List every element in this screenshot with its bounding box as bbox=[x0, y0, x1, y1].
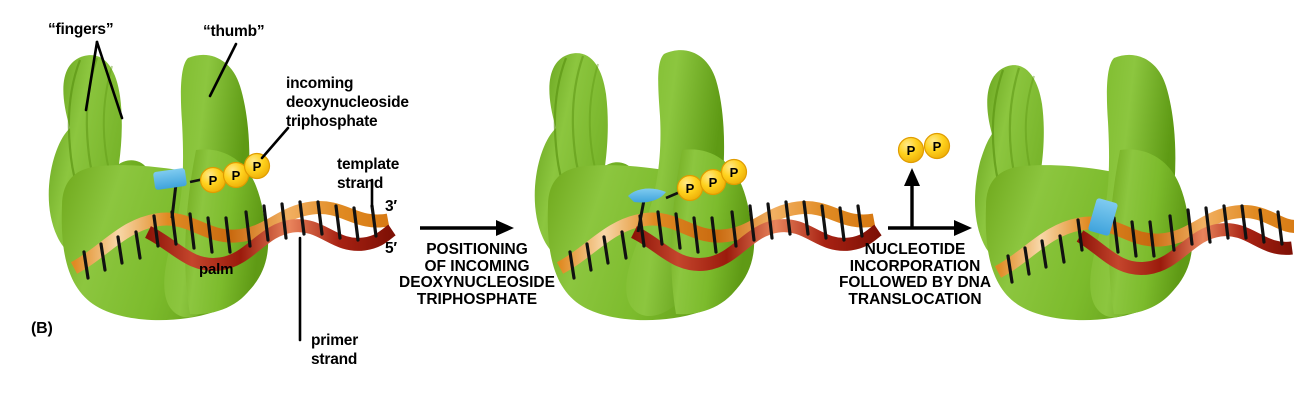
label-primer-strand-line1: primer bbox=[311, 333, 358, 350]
label-thumb: “thumb” bbox=[203, 24, 264, 41]
label-primer-strand-line2: strand bbox=[311, 352, 357, 369]
label-five-prime: 5′ bbox=[385, 241, 397, 258]
svg-text:P: P bbox=[686, 181, 695, 196]
label-incoming-dntp-line2: deoxynucleoside bbox=[286, 95, 409, 112]
panel-3-polymerase bbox=[975, 55, 1294, 320]
arrow2-line-2: INCORPORATION bbox=[836, 259, 994, 276]
illustration-layer: P P P bbox=[0, 0, 1294, 400]
svg-text:P: P bbox=[709, 175, 718, 190]
arrow-incorporation-caption: NUCLEOTIDE INCORPORATION FOLLOWED BY DNA… bbox=[836, 242, 994, 309]
arrow2-line-3: FOLLOWED BY DNA bbox=[836, 275, 994, 292]
arrow-positioning-caption: POSITIONING OF INCOMING DEOXYNUCLEOSIDE … bbox=[398, 242, 556, 309]
svg-text:P: P bbox=[907, 143, 916, 158]
arrow1-line-1: POSITIONING bbox=[398, 242, 556, 259]
label-incoming-dntp-line3: triphosphate bbox=[286, 114, 377, 131]
svg-text:P: P bbox=[933, 139, 942, 154]
arrow2-line-4: TRANSLOCATION bbox=[836, 292, 994, 309]
label-three-prime: 3′ bbox=[385, 199, 397, 216]
label-template-strand-line2: strand bbox=[337, 176, 383, 193]
arrow-incorporation-glyph bbox=[888, 168, 972, 236]
svg-text:P: P bbox=[253, 159, 262, 174]
svg-text:P: P bbox=[730, 165, 739, 180]
arrow1-line-4: TRIPHOSPHATE bbox=[398, 292, 556, 309]
label-incoming-dntp-line1: incoming bbox=[286, 76, 353, 93]
label-template-strand-line1: template bbox=[337, 157, 399, 174]
label-palm: palm bbox=[199, 262, 233, 278]
label-fingers: “fingers” bbox=[48, 22, 113, 39]
arrow1-line-2: OF INCOMING bbox=[398, 259, 556, 276]
released-pyrophosphate: P P bbox=[899, 134, 950, 163]
arrow1-line-3: DEOXYNUCLEOSIDE bbox=[398, 275, 556, 292]
arrow-positioning-glyph bbox=[420, 220, 514, 236]
dna-polymerase-figure: P P P bbox=[0, 0, 1294, 400]
arrow2-line-1: NUCLEOTIDE bbox=[836, 242, 994, 259]
svg-text:P: P bbox=[209, 173, 218, 188]
panel-letter-b: (B) bbox=[31, 320, 53, 337]
panel-2-polymerase: P P P bbox=[535, 50, 878, 320]
svg-text:P: P bbox=[232, 168, 241, 183]
